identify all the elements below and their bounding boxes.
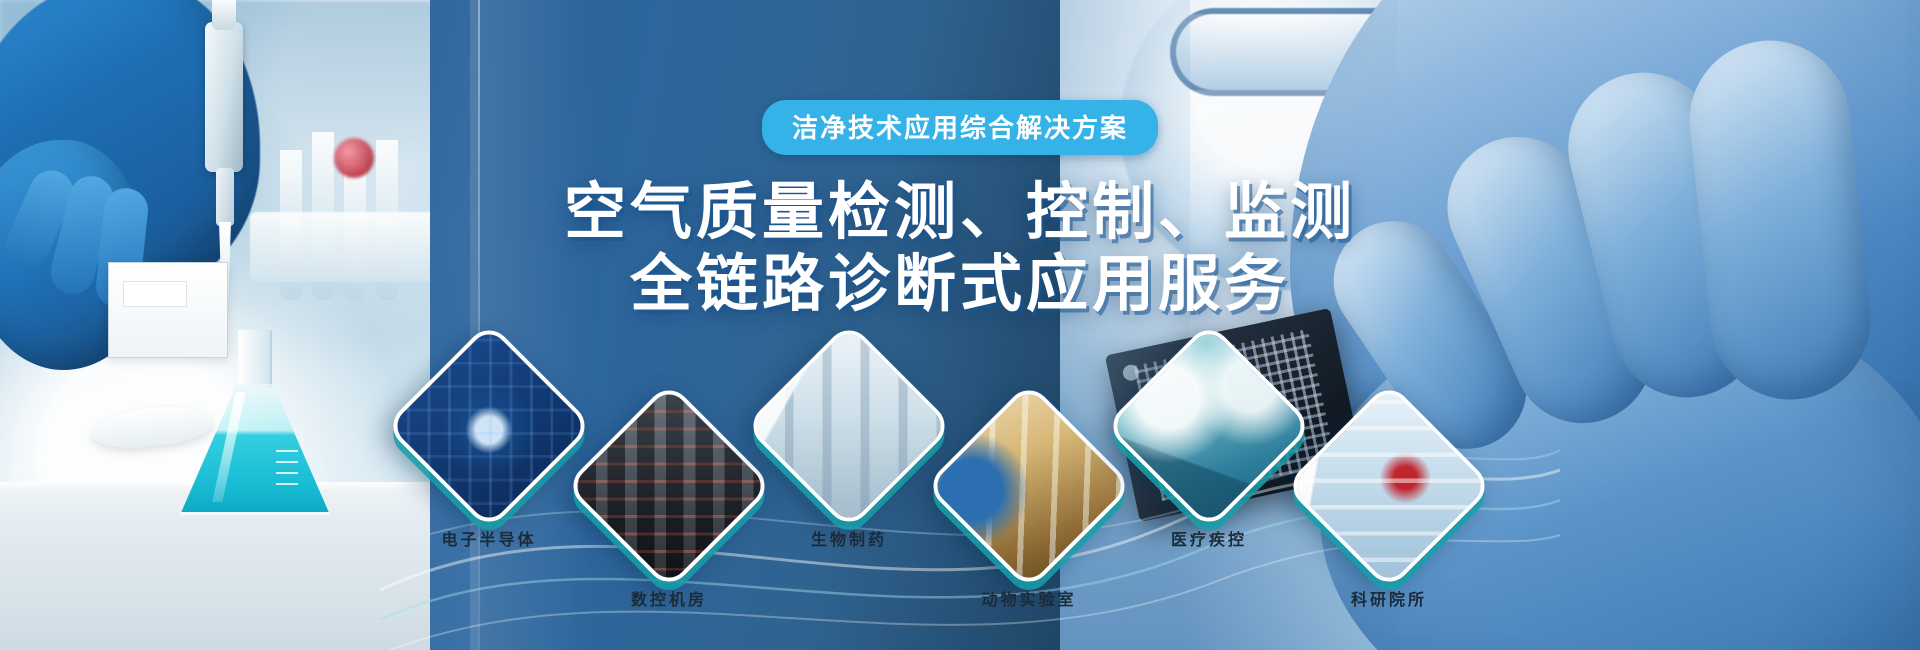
headline-line-1: 空气质量检测、控制、监测 — [564, 178, 1356, 247]
hero-badge: 洁净技术应用综合解决方案 — [762, 100, 1158, 155]
industry-card-medical-cdc[interactable] — [1104, 321, 1313, 530]
industry-card-biopharma[interactable] — [744, 321, 953, 530]
industry-card-label-server-room: 数控机房 — [549, 586, 789, 610]
research-institute-icon — [1287, 384, 1491, 588]
hero-text-block: 洁净技术应用综合解决方案 空气质量检测、控制、监测 全链路诊断式应用服务 — [0, 100, 1920, 321]
industry-card-label-semiconductor: 电子半导体 — [369, 526, 609, 550]
semiconductor-chip-icon — [387, 324, 591, 528]
industry-card-server-room[interactable] — [564, 381, 773, 590]
industry-card-row: 电子半导体 数控机房 生物制药 动物实验室 医疗疾控 科研院所 — [0, 320, 1920, 650]
headline-line-2: 全链路诊断式应用服务 — [0, 249, 1920, 321]
industry-card-animal-lab[interactable] — [924, 381, 1133, 590]
animal-lab-icon — [927, 384, 1131, 588]
medical-cdc-icon — [1107, 324, 1311, 528]
industry-card-label-research-institute: 科研院所 — [1269, 586, 1509, 610]
industry-card-research-institute[interactable] — [1284, 381, 1493, 590]
hero-banner: 洁净技术应用综合解决方案 空气质量检测、控制、监测 全链路诊断式应用服务 电子半… — [0, 0, 1920, 650]
server-room-icon — [567, 384, 771, 588]
industry-card-label-biopharma: 生物制药 — [729, 526, 969, 550]
biopharma-icon — [747, 324, 951, 528]
industry-card-label-animal-lab: 动物实验室 — [909, 586, 1149, 610]
industry-card-label-medical-cdc: 医疗疾控 — [1089, 526, 1329, 550]
hero-headline: 空气质量检测、控制、监测 全链路诊断式应用服务 — [0, 177, 1920, 321]
industry-card-semiconductor[interactable] — [384, 321, 593, 530]
pipette-plunger — [212, 0, 236, 30]
